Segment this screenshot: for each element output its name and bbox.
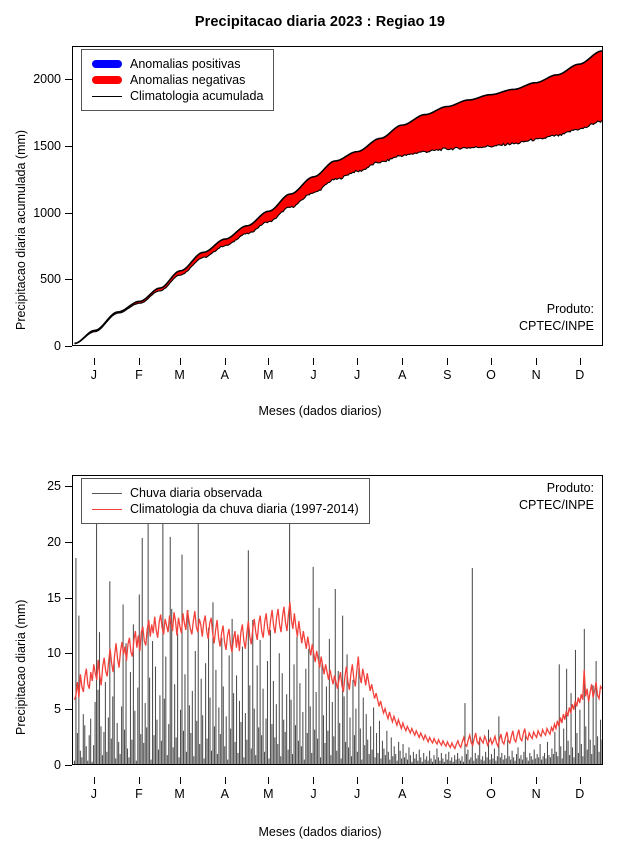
- y-tick-mark: [65, 653, 72, 654]
- y-tick-label: 25: [47, 479, 61, 493]
- daily-precipitation-panel: Precipitacao diaria (mm) Chuva diaria ob…: [0, 430, 640, 850]
- x-tick-mark: [491, 358, 492, 365]
- legend-item-negative-anomaly: Anomalias negativas: [90, 72, 263, 88]
- y-tick-label: 1000: [33, 206, 61, 220]
- y-tick-label: 15: [47, 591, 61, 605]
- x-tick-label: J: [354, 368, 360, 382]
- produto-line-2: CPTEC/INPE: [519, 318, 594, 335]
- legend-label: Climatologia da chuva diaria (1997-2014): [124, 502, 359, 516]
- y-tick-label: 2000: [33, 72, 61, 86]
- y-tick-label: 0: [54, 758, 61, 772]
- x-tick-label: A: [398, 787, 406, 801]
- y-tick-label: 5: [54, 702, 61, 716]
- x-tick-mark: [491, 777, 492, 784]
- legend-item-positive-anomaly: Anomalias positivas: [90, 56, 263, 72]
- blue-bar-icon: [90, 60, 124, 68]
- produto-line-1: Produto:: [519, 301, 594, 318]
- x-tick-mark: [536, 777, 537, 784]
- y-tick-mark: [65, 79, 72, 80]
- y-tick-mark: [65, 213, 72, 214]
- x-tick-label: M: [263, 368, 273, 382]
- x-tick-label: S: [443, 787, 451, 801]
- x-tick-label: F: [135, 368, 143, 382]
- x-tick-mark: [94, 777, 95, 784]
- legend-item-observed-rain: Chuva diaria observada: [90, 485, 359, 501]
- x-tick-mark: [402, 777, 403, 784]
- x-tick-mark: [139, 777, 140, 784]
- red-line-icon: [90, 509, 124, 510]
- x-tick-mark: [313, 777, 314, 784]
- y-tick-label: 500: [40, 272, 61, 286]
- observed-daily-bars: [74, 520, 602, 764]
- bottom-y-axis-label: Precipitacao diaria (mm): [14, 600, 28, 735]
- x-tick-mark: [447, 777, 448, 784]
- x-tick-mark: [139, 358, 140, 365]
- top-y-axis-label: Precipitacao diaria acumulada (mm): [14, 130, 28, 330]
- y-tick-label: 10: [47, 646, 61, 660]
- black-line-icon: [90, 96, 124, 97]
- y-tick-mark: [65, 709, 72, 710]
- x-tick-label: J: [91, 787, 97, 801]
- x-tick-label: M: [174, 787, 184, 801]
- y-tick-mark: [65, 765, 72, 766]
- x-tick-mark: [180, 777, 181, 784]
- bottom-plot-area: Chuva diaria observada Climatologia da c…: [72, 475, 603, 765]
- x-tick-label: A: [221, 368, 229, 382]
- y-tick-label: 1500: [33, 139, 61, 153]
- bottom-produto-annotation: Produto: CPTEC/INPE: [519, 480, 594, 514]
- x-tick-mark: [313, 358, 314, 365]
- x-tick-mark: [580, 777, 581, 784]
- x-tick-label: J: [354, 787, 360, 801]
- page-title: Precipitacao diaria 2023 : Regiao 19: [0, 14, 640, 30]
- bottom-x-axis-label: Meses (dados diarios): [0, 825, 640, 839]
- x-tick-mark: [536, 358, 537, 365]
- x-tick-label: N: [532, 368, 541, 382]
- x-tick-mark: [94, 358, 95, 365]
- top-legend: Anomalias positivas Anomalias negativas …: [81, 49, 274, 111]
- x-tick-label: J: [310, 368, 316, 382]
- legend-item-climatology: Climatologia acumulada: [90, 88, 263, 104]
- x-tick-mark: [447, 358, 448, 365]
- x-tick-label: J: [91, 368, 97, 382]
- accumulated-precipitation-panel: Precipitacao diaria 2023 : Regiao 19 Pre…: [0, 0, 640, 430]
- x-tick-mark: [180, 358, 181, 365]
- top-plot-area: Anomalias positivas Anomalias negativas …: [72, 46, 603, 346]
- legend-item-daily-climatology: Climatologia da chuva diaria (1997-2014): [90, 501, 359, 517]
- y-tick-mark: [65, 346, 72, 347]
- x-tick-mark: [357, 777, 358, 784]
- red-bar-icon: [90, 76, 124, 84]
- top-x-axis-label: Meses (dados diarios): [0, 404, 640, 418]
- x-tick-label: J: [310, 787, 316, 801]
- x-tick-label: M: [174, 368, 184, 382]
- y-tick-mark: [65, 279, 72, 280]
- y-tick-mark: [65, 486, 72, 487]
- x-tick-label: M: [263, 787, 273, 801]
- x-tick-label: D: [575, 368, 584, 382]
- x-tick-mark: [225, 358, 226, 365]
- legend-label: Anomalias positivas: [124, 57, 240, 71]
- x-tick-label: D: [575, 787, 584, 801]
- legend-label: Anomalias negativas: [124, 73, 245, 87]
- top-produto-annotation: Produto: CPTEC/INPE: [519, 301, 594, 335]
- x-tick-label: S: [443, 368, 451, 382]
- produto-line-1: Produto:: [519, 480, 594, 497]
- y-tick-mark: [65, 598, 72, 599]
- x-tick-mark: [225, 777, 226, 784]
- legend-label: Climatologia acumulada: [124, 89, 263, 103]
- y-tick-mark: [65, 146, 72, 147]
- x-tick-mark: [268, 777, 269, 784]
- y-tick-mark: [65, 542, 72, 543]
- x-tick-label: F: [135, 787, 143, 801]
- x-tick-mark: [402, 358, 403, 365]
- gray-line-icon: [90, 493, 124, 494]
- x-tick-label: A: [221, 787, 229, 801]
- x-tick-label: O: [486, 368, 496, 382]
- y-tick-label: 20: [47, 535, 61, 549]
- x-tick-label: O: [486, 787, 496, 801]
- x-tick-mark: [357, 358, 358, 365]
- x-tick-mark: [268, 358, 269, 365]
- x-tick-label: A: [398, 368, 406, 382]
- produto-line-2: CPTEC/INPE: [519, 497, 594, 514]
- x-tick-label: N: [532, 787, 541, 801]
- x-tick-mark: [580, 358, 581, 365]
- bottom-legend: Chuva diaria observada Climatologia da c…: [81, 478, 370, 524]
- y-tick-label: 0: [54, 339, 61, 353]
- legend-label: Chuva diaria observada: [124, 486, 262, 500]
